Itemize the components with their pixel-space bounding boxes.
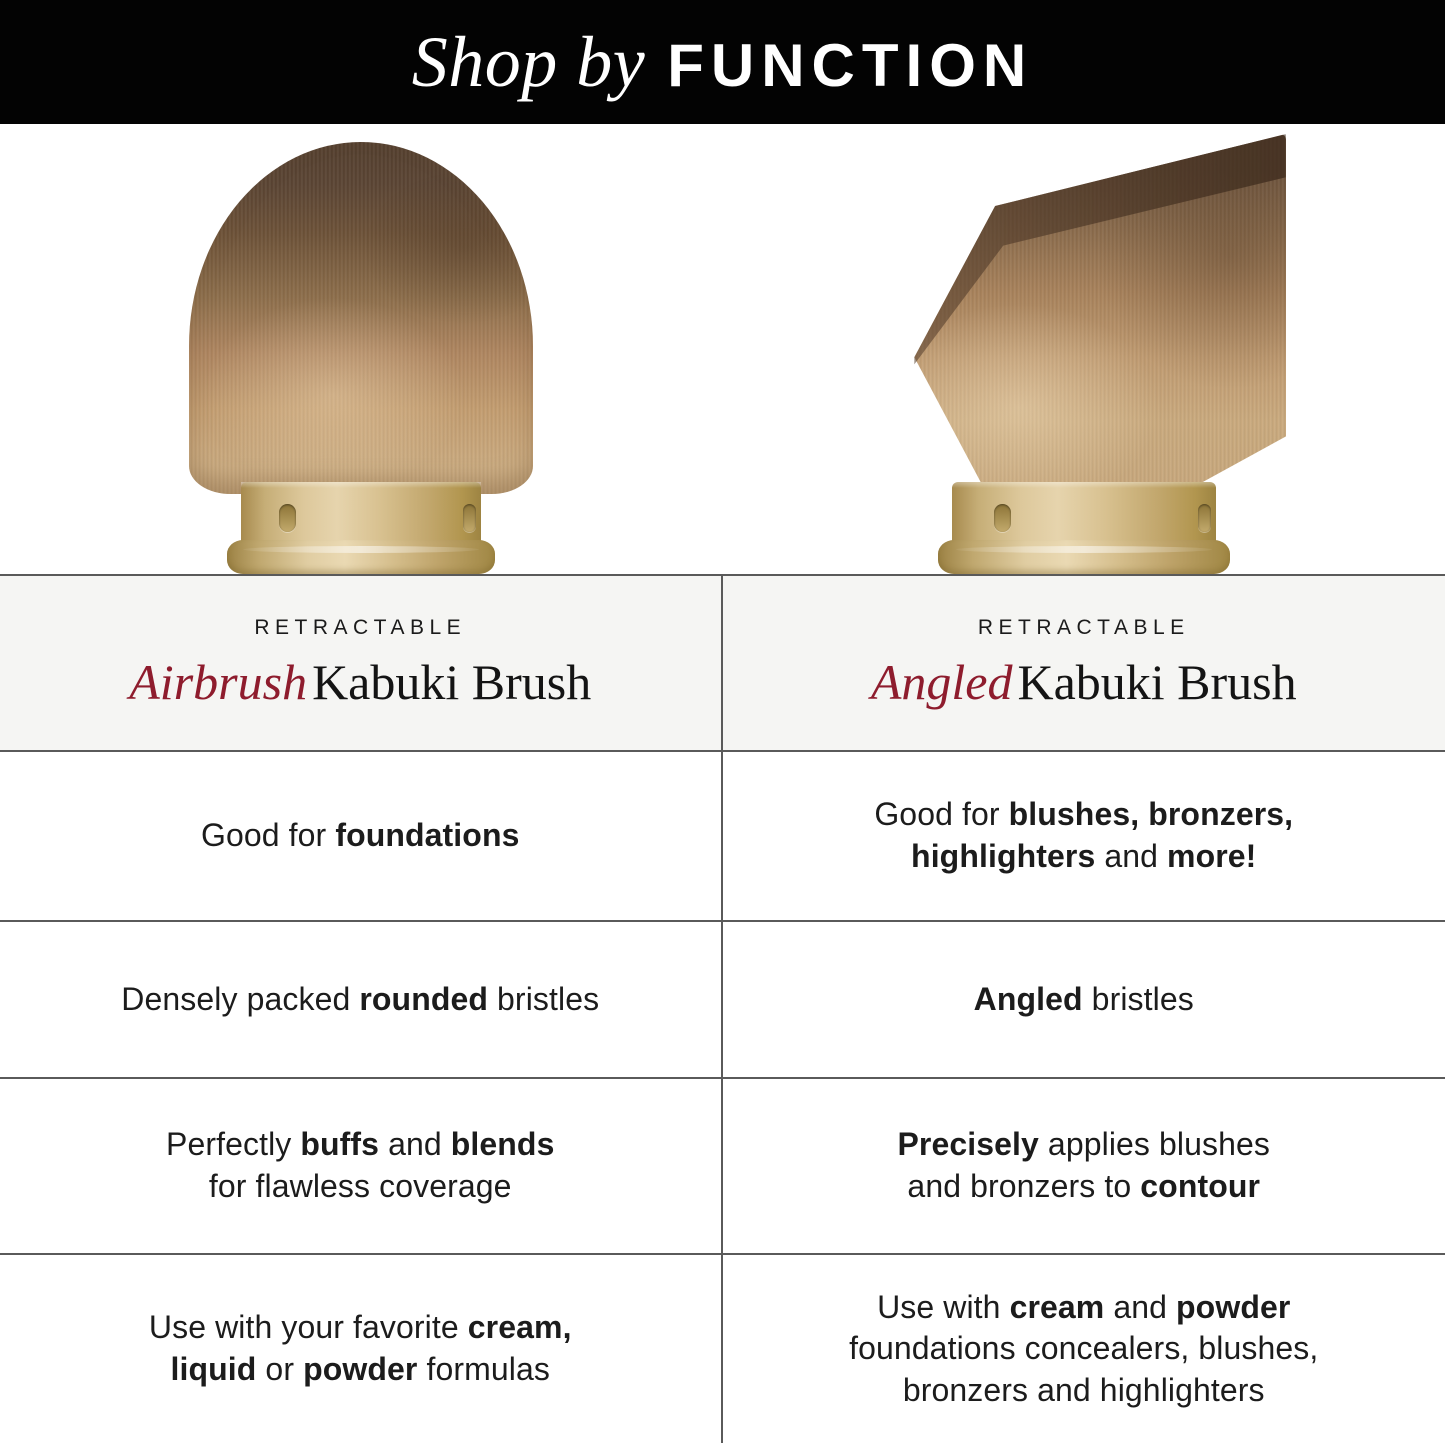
feature-line: and bronzers to contour <box>897 1166 1270 1208</box>
feature-line: Densely packed rounded bristles <box>121 979 599 1021</box>
product-title-cell-airbrush[interactable]: RETRACTABLE AirbrushKabuki Brush <box>0 576 723 750</box>
product-image-angled-kabuki[interactable] <box>723 124 1445 574</box>
rounded-kabuki-brush-illustration <box>171 124 551 574</box>
feature-text: Densely packed rounded bristles <box>121 979 599 1021</box>
feature-line: Perfectly buffs and blends <box>166 1124 554 1166</box>
product-eyebrow: RETRACTABLE <box>978 616 1190 640</box>
feature-text: Use with cream and powderfoundations con… <box>849 1287 1318 1412</box>
product-title-cell-angled[interactable]: RETRACTABLE AngledKabuki Brush <box>723 576 1445 750</box>
feature-text: Perfectly buffs and blendsfor flawless c… <box>166 1124 554 1207</box>
product-image-area <box>0 124 1445 574</box>
ferrule-base-ring <box>227 540 495 574</box>
feature-line: bronzers and highlighters <box>849 1370 1318 1412</box>
feature-line: Good for blushes, bronzers, <box>874 794 1293 836</box>
feature-line: Angled bristles <box>974 979 1194 1021</box>
feature-text: Good for foundations <box>201 815 520 857</box>
feature-cell-left: Densely packed rounded bristles <box>0 922 723 1077</box>
product-name-rest: Kabuki Brush <box>312 654 591 710</box>
product-name-rest: Kabuki Brush <box>1017 654 1296 710</box>
table-row: Use with your favorite cream,liquid or p… <box>0 1255 1445 1443</box>
feature-cell-right: Good for blushes, bronzers,highlighters … <box>723 752 1445 920</box>
product-accent-word: Angled <box>871 654 1018 710</box>
feature-text: Good for blushes, bronzers,highlighters … <box>874 794 1293 877</box>
product-accent-word: Airbrush <box>129 654 312 710</box>
feature-cell-right: Precisely applies blushesand bronzers to… <box>723 1079 1445 1253</box>
shop-by-function-infographic: Shop by FUNCTION <box>0 0 1445 1445</box>
gold-ferrule <box>227 482 495 574</box>
brush-bristle-dome <box>189 142 533 494</box>
ferrule-base-ring <box>938 540 1230 574</box>
ferrule-slot-icon <box>279 504 296 532</box>
feature-cell-left: Perfectly buffs and blendsfor flawless c… <box>0 1079 723 1253</box>
feature-cell-left: Use with your favorite cream,liquid or p… <box>0 1255 723 1443</box>
product-comparison-table: RETRACTABLE AirbrushKabuki Brush RETRACT… <box>0 574 1445 1445</box>
table-row: Perfectly buffs and blendsfor flawless c… <box>0 1079 1445 1255</box>
feature-line: foundations concealers, blushes, <box>849 1328 1318 1370</box>
banner-bold-text: FUNCTION <box>667 31 1033 100</box>
feature-line: Use with cream and powder <box>849 1287 1318 1329</box>
feature-text: Precisely applies blushesand bronzers to… <box>897 1124 1270 1207</box>
feature-line: Use with your favorite cream, <box>149 1307 572 1349</box>
feature-line: for flawless coverage <box>166 1166 554 1208</box>
ferrule-slot-right-icon <box>1198 504 1211 532</box>
feature-line: liquid or powder formulas <box>149 1349 572 1391</box>
feature-text: Use with your favorite cream,liquid or p… <box>149 1307 572 1390</box>
product-name: AngledKabuki Brush <box>871 654 1297 710</box>
feature-text: Angled bristles <box>974 979 1194 1021</box>
angled-kabuki-brush-illustration <box>874 124 1294 574</box>
feature-line: highlighters and more! <box>874 836 1293 878</box>
bristle-shadow <box>189 142 533 494</box>
feature-cell-left: Good for foundations <box>0 752 723 920</box>
gold-ferrule <box>938 482 1230 574</box>
ferrule-slot-right-icon <box>463 504 476 532</box>
ferrule-slot-icon <box>994 504 1011 532</box>
feature-line: Precisely applies blushes <box>897 1124 1270 1166</box>
feature-cell-right: Angled bristles <box>723 922 1445 1077</box>
product-image-airbrush-kabuki[interactable] <box>0 124 722 574</box>
feature-cell-right: Use with cream and powderfoundations con… <box>723 1255 1445 1443</box>
feature-line: Good for foundations <box>201 815 520 857</box>
banner-title: Shop by FUNCTION <box>412 21 1033 104</box>
product-eyebrow: RETRACTABLE <box>254 616 466 640</box>
table-row-product-titles: RETRACTABLE AirbrushKabuki Brush RETRACT… <box>0 576 1445 752</box>
table-row: Densely packed rounded bristles Angled b… <box>0 922 1445 1079</box>
table-row: Good for foundations Good for blushes, b… <box>0 752 1445 922</box>
page-banner: Shop by FUNCTION <box>0 0 1445 124</box>
product-name: AirbrushKabuki Brush <box>129 654 591 710</box>
banner-script-text: Shop by <box>412 21 667 104</box>
